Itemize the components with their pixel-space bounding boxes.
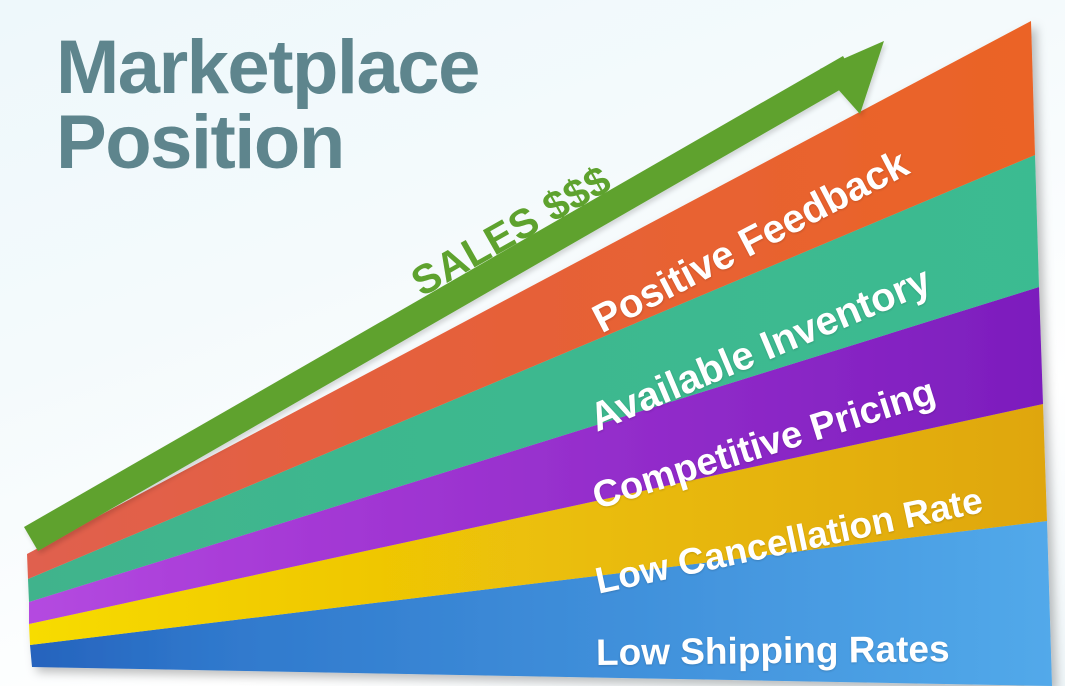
growth-arrow-head [820, 41, 884, 114]
band-label-low-shipping-rates[interactable]: Low Shipping Rates [596, 628, 950, 674]
infographic-canvas: Marketplace Position SALES $$$ Positive … [0, 0, 1065, 686]
page-title: Marketplace Position [56, 30, 479, 180]
